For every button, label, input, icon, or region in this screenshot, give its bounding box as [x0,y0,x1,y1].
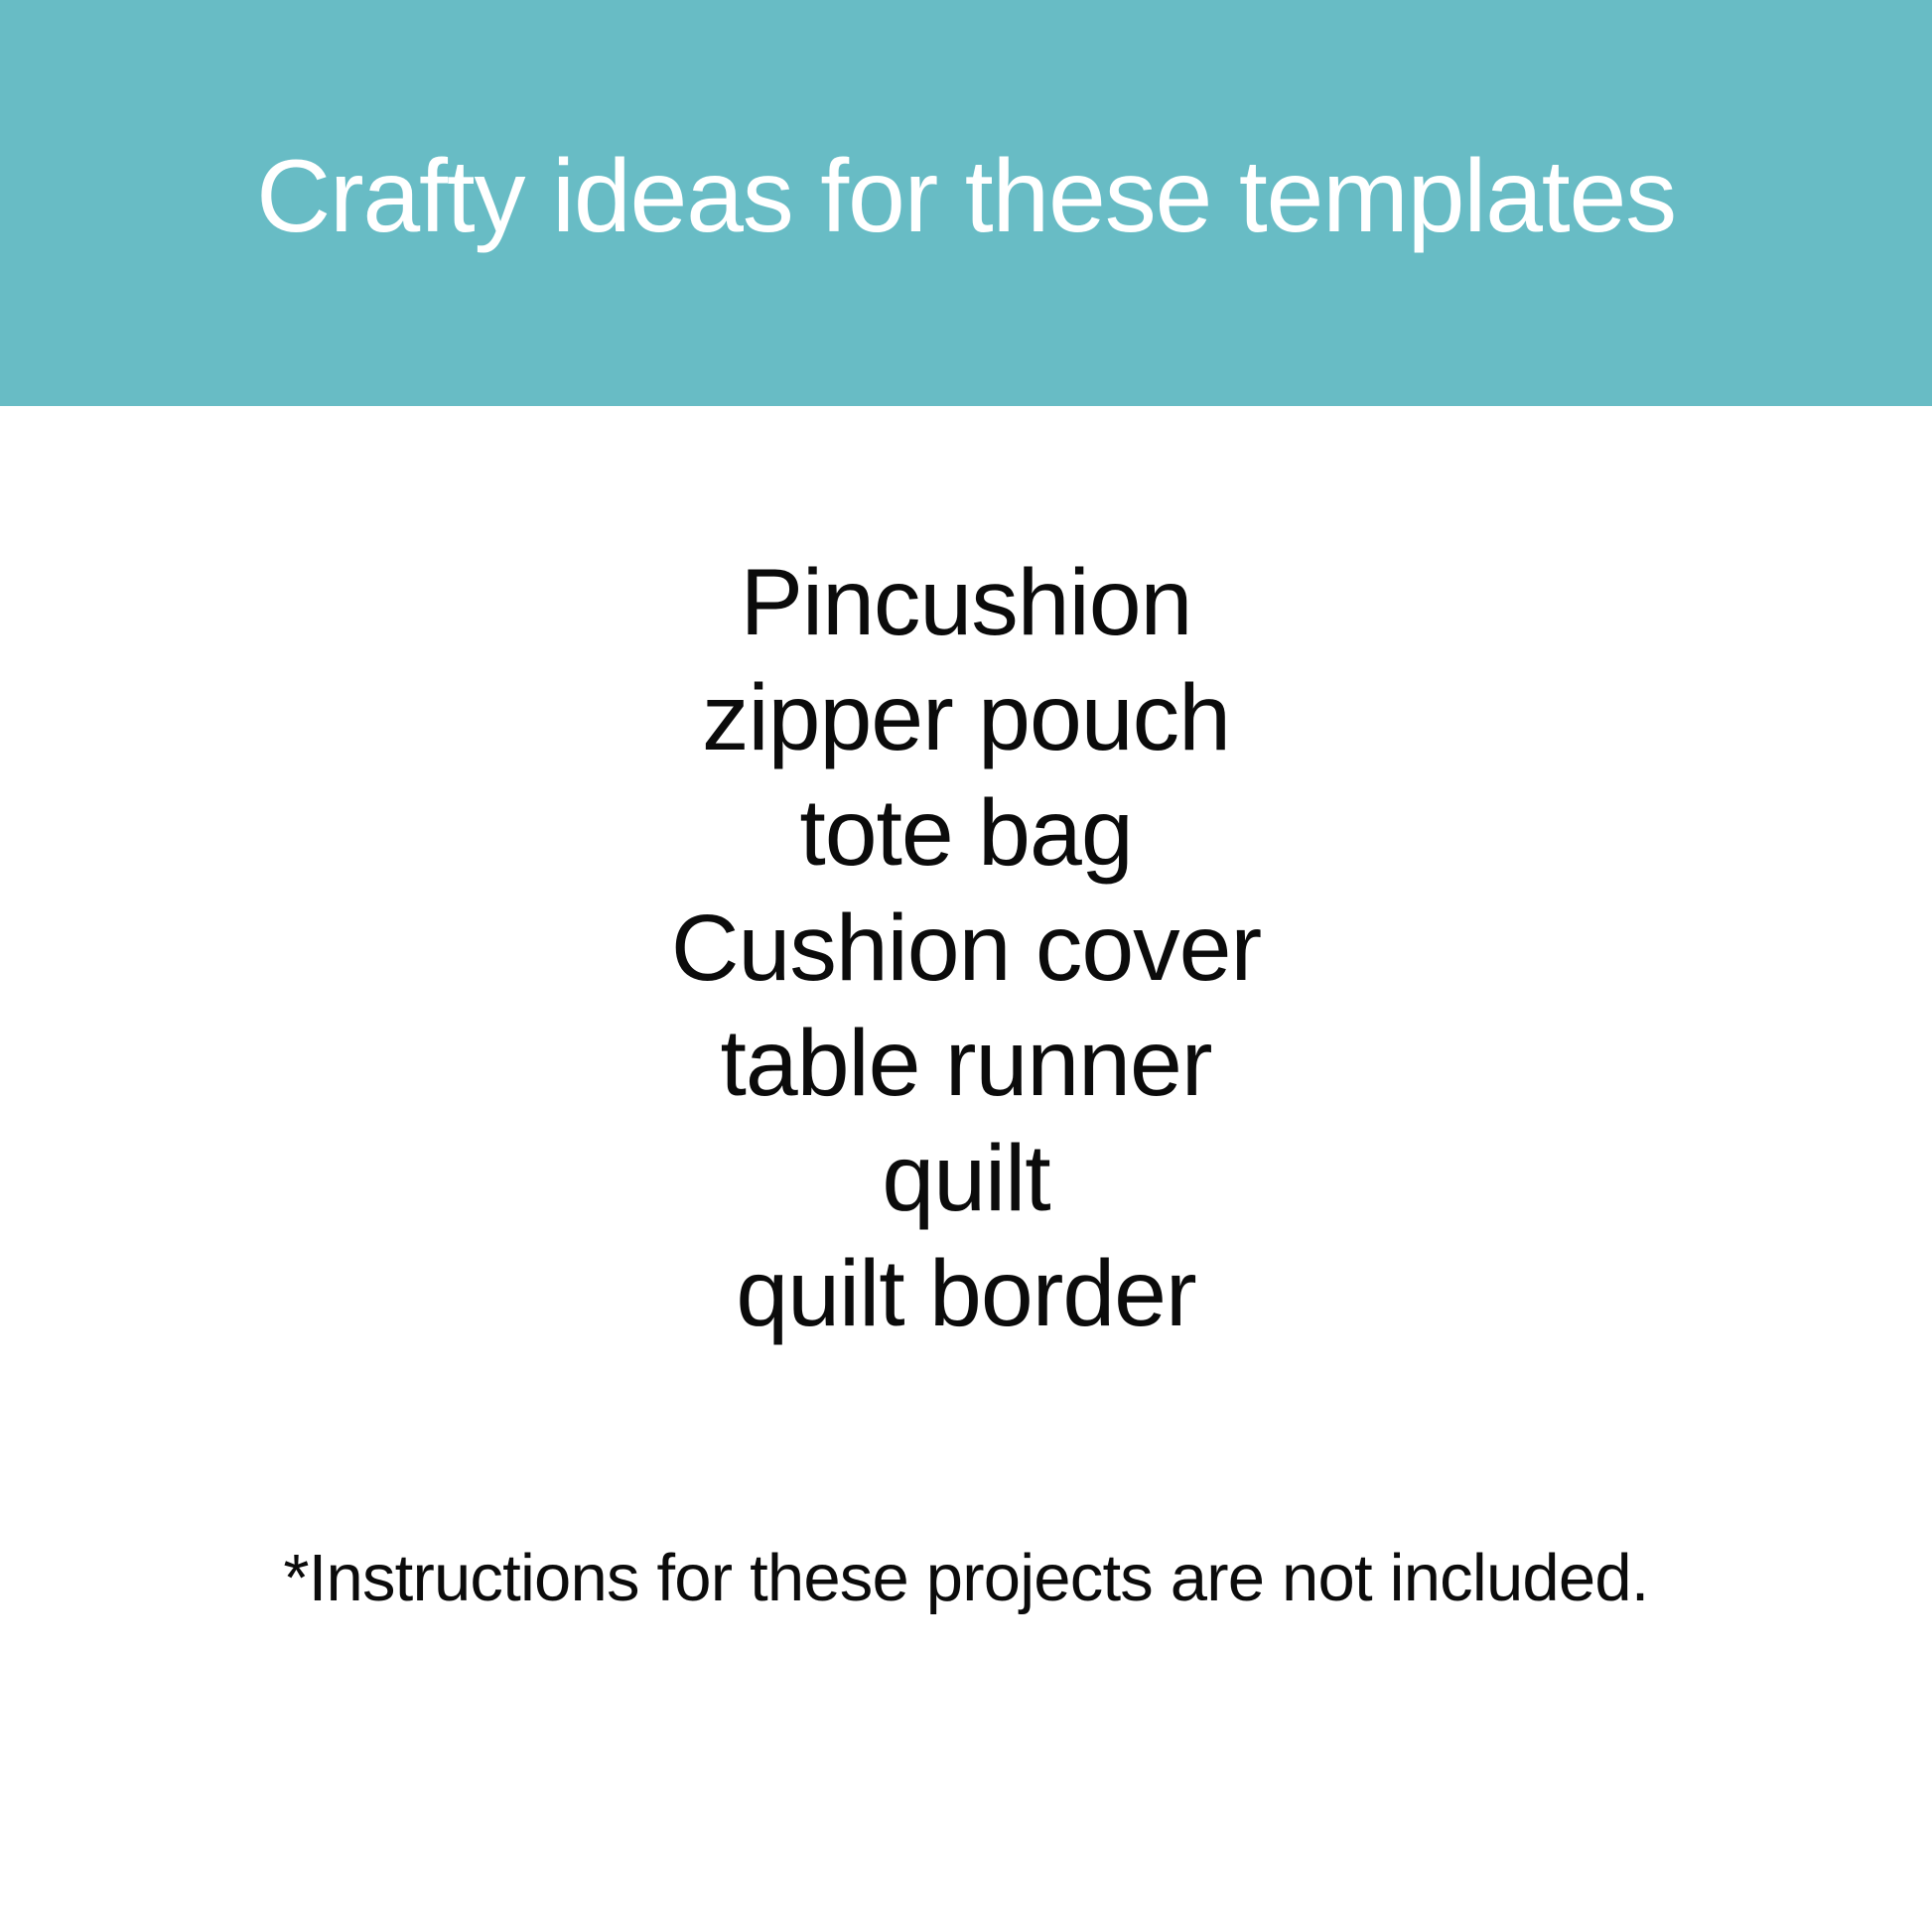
list-item-zipper-pouch: zipper pouch [0,660,1932,775]
slide-canvas: Crafty ideas for these templates Pincush… [0,0,1932,1932]
list-item-quilt: quilt [0,1121,1932,1236]
list-item-table-runner: table runner [0,1006,1932,1121]
crafty-ideas-list: Pincushion zipper pouch tote bag Cushion… [0,545,1932,1351]
list-item-tote-bag: tote bag [0,775,1932,891]
disclaimer-footnote: *Instructions for these projects are not… [0,1539,1932,1618]
content-area: Pincushion zipper pouch tote bag Cushion… [0,406,1932,1932]
page-title: Crafty ideas for these templates [0,142,1932,251]
header-banner: Crafty ideas for these templates [0,0,1932,406]
list-item-quilt-border: quilt border [0,1236,1932,1351]
list-item-pincushion: Pincushion [0,545,1932,660]
list-item-cushion-cover: Cushion cover [0,891,1932,1006]
